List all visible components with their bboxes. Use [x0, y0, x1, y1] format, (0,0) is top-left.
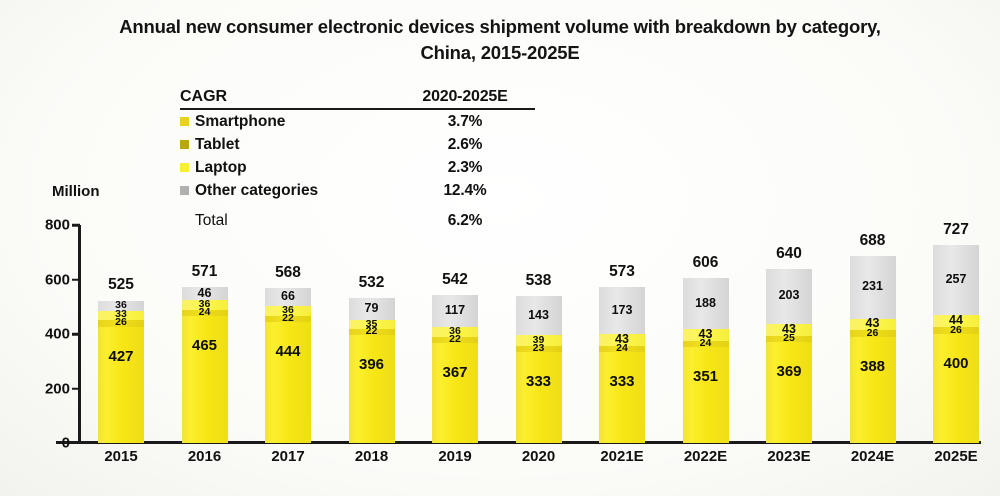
bar-total-label: 542: [422, 271, 488, 289]
legend-swatch-tablet: [180, 140, 189, 149]
bar-total-label: 525: [88, 276, 154, 294]
x-axis-tick-label: 2015: [86, 448, 156, 465]
legend-swatch-other-categories: [180, 186, 189, 195]
bar-segment-other-categories[interactable]: 231: [850, 256, 896, 319]
segment-value-label: 203: [766, 289, 812, 302]
bar-segment-other-categories[interactable]: 79: [349, 298, 395, 320]
y-tick-label: 800: [0, 217, 70, 234]
y-tick-label: 0: [0, 435, 70, 452]
bar-segment-smartphone[interactable]: 465: [182, 316, 228, 443]
bar-column[interactable]: 363326427: [98, 300, 144, 443]
cagr-header-label: CAGR: [180, 88, 395, 106]
bar-total-label: 532: [339, 274, 405, 292]
x-axis-tick-label: 2023E: [754, 448, 824, 465]
segment-value-label: 444: [265, 344, 311, 359]
cagr-header-period: 2020-2025E: [395, 88, 535, 106]
bar-segment-tablet[interactable]: 26: [98, 320, 144, 327]
y-axis-unit-label: Million: [52, 183, 100, 200]
segment-value-label: 369: [766, 364, 812, 379]
segment-value-label: 351: [683, 369, 729, 384]
cagr-value-tablet: 2.6%: [395, 136, 535, 154]
cagr-value-smartphone: 3.7%: [395, 113, 535, 131]
bar-segment-smartphone[interactable]: 333: [516, 352, 562, 443]
cagr-value-other-categories: 12.4%: [395, 182, 535, 200]
chart-page: Annual new consumer electronic devices s…: [0, 0, 1000, 496]
x-axis-tick-label: 2025E: [921, 448, 991, 465]
bar-segment-smartphone[interactable]: 388: [850, 337, 896, 443]
x-axis-tick-label: 2021E: [587, 448, 657, 465]
bar-column[interactable]: 1433923333: [516, 296, 562, 443]
bar-column[interactable]: 1884324351: [683, 278, 729, 443]
y-tick-label: 200: [0, 380, 70, 397]
bar-column[interactable]: 663622444: [265, 288, 311, 443]
segment-value-label: 257: [933, 273, 979, 286]
segment-value-label: 143: [516, 309, 562, 322]
bar-segment-smartphone[interactable]: 400: [933, 334, 979, 443]
bar-segment-smartphone[interactable]: 396: [349, 335, 395, 443]
legend-label-smartphone: Smartphone: [195, 113, 285, 131]
bar-segment-other-categories[interactable]: 203: [766, 269, 812, 324]
bar-segment-smartphone[interactable]: 367: [432, 343, 478, 443]
bar-segment-smartphone[interactable]: 351: [683, 347, 729, 443]
bar-column[interactable]: 463624465: [182, 287, 228, 443]
bar-total-label: 688: [840, 232, 906, 250]
cagr-header-row: CAGR 2020-2025E: [180, 85, 535, 110]
legend-item-tablet[interactable]: Tablet 2.6%: [180, 133, 535, 156]
legend-item-laptop[interactable]: Laptop 2.3%: [180, 156, 535, 179]
segment-value-label: 231: [850, 280, 896, 293]
cagr-value-laptop: 2.3%: [395, 159, 535, 177]
bar-segment-smartphone[interactable]: 369: [766, 342, 812, 443]
bar-segment-tablet[interactable]: 26: [933, 327, 979, 334]
y-tick-label: 600: [0, 271, 70, 288]
legend-label-tablet: Tablet: [195, 136, 240, 154]
bar-total-label: 568: [255, 264, 321, 282]
bar-segment-other-categories[interactable]: 257: [933, 245, 979, 315]
x-axis-tick-label: 2024E: [838, 448, 908, 465]
legend-item-other-categories[interactable]: Other categories 12.4%: [180, 179, 535, 202]
bar-total-label: 571: [172, 263, 238, 281]
segment-value-label: 427: [98, 349, 144, 364]
legend-swatch-laptop: [180, 163, 189, 172]
legend-label-other-categories: Other categories: [195, 182, 318, 200]
bar-total-label: 573: [589, 263, 655, 281]
segment-value-label: 117: [432, 304, 478, 317]
x-axis-tick-label: 2022E: [671, 448, 741, 465]
segment-value-label: 367: [432, 365, 478, 380]
segment-value-label: 66: [265, 290, 311, 303]
legend-swatch-smartphone: [180, 117, 189, 126]
bar-segment-tablet[interactable]: 25: [766, 336, 812, 343]
bar-segment-other-categories[interactable]: 188: [683, 278, 729, 329]
bar-segment-smartphone[interactable]: 333: [599, 352, 645, 443]
bar-segment-other-categories[interactable]: 173: [599, 287, 645, 334]
bar-total-label: 538: [506, 272, 572, 290]
bar-segment-other-categories[interactable]: 117: [432, 295, 478, 327]
legend-item-smartphone[interactable]: Smartphone 3.7%: [180, 110, 535, 133]
x-axis-tick-label: 2020: [504, 448, 574, 465]
bar-column[interactable]: 2574426400: [933, 245, 979, 443]
bar-total-label: 640: [756, 245, 822, 263]
chart-title: Annual new consumer electronic devices s…: [100, 14, 900, 65]
bar-segment-smartphone[interactable]: 427: [98, 327, 144, 443]
legend-label-laptop: Laptop: [195, 159, 247, 177]
segment-value-label: 396: [349, 357, 395, 372]
segment-value-label: 333: [516, 374, 562, 389]
x-axis-tick-label: 2019: [420, 448, 490, 465]
cagr-legend-table: CAGR 2020-2025E Smartphone 3.7% Tablet 2…: [180, 85, 535, 232]
bar-series-group: 3633264275254636244655716636224445687935…: [78, 225, 980, 443]
bar-column[interactable]: 2034325369: [766, 269, 812, 443]
y-tick-label: 400: [0, 326, 70, 343]
segment-value-label: 79: [349, 302, 395, 315]
bar-column[interactable]: 2314326388: [850, 256, 896, 443]
bar-segment-smartphone[interactable]: 444: [265, 322, 311, 443]
bar-segment-tablet[interactable]: 26: [850, 330, 896, 337]
segment-value-label: 465: [182, 338, 228, 353]
x-axis-tick-label: 2017: [253, 448, 323, 465]
bar-column[interactable]: 1734324333: [599, 287, 645, 443]
bar-segment-other-categories[interactable]: 143: [516, 296, 562, 335]
x-axis-tick-label: 2016: [170, 448, 240, 465]
segment-value-label: 188: [683, 297, 729, 310]
segment-value-label: 173: [599, 304, 645, 317]
segment-value-label: 333: [599, 374, 645, 389]
x-axis-tick-label: 2018: [337, 448, 407, 465]
bar-total-label: 606: [673, 254, 739, 272]
segment-value-label: 400: [933, 356, 979, 371]
bar-column[interactable]: 793522396: [349, 298, 395, 443]
bar-total-label: 727: [923, 221, 989, 239]
x-axis-labels: 2015201620172018201920202021E2022E2023E2…: [78, 0, 980, 1]
bar-column[interactable]: 1173622367: [432, 295, 478, 443]
segment-value-label: 388: [850, 359, 896, 374]
